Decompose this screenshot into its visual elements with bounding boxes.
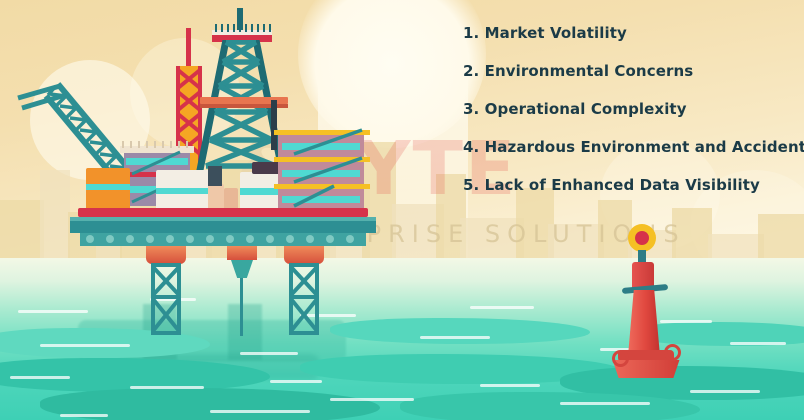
water-highlight xyxy=(420,336,490,339)
buoy-handle-right xyxy=(664,344,681,361)
derrick-crown-pickets xyxy=(213,24,273,32)
offshore-oil-drilling-rig xyxy=(0,0,420,360)
water-highlight xyxy=(470,306,534,309)
water-highlight xyxy=(10,376,70,379)
water-highlight xyxy=(60,414,108,417)
water-highlight xyxy=(690,390,760,393)
navigation-buoy xyxy=(600,224,710,374)
challenges-list: 1. Market Volatility 2. Environmental Co… xyxy=(463,26,793,193)
orange-container-stripe xyxy=(86,184,130,190)
list-item: 2. Environmental Concerns xyxy=(463,64,793,79)
water-highlight xyxy=(330,398,414,401)
center-drill-cone xyxy=(231,260,253,278)
buoy-light-lens xyxy=(635,231,649,245)
left-leg-lattice xyxy=(149,263,183,335)
right-leg-collar xyxy=(284,246,324,264)
right-module-diagonal-struts xyxy=(274,128,370,210)
center-stack-dark xyxy=(208,166,222,186)
center-drill-collar xyxy=(227,246,257,260)
right-leg-lattice xyxy=(287,263,321,335)
center-tank-b xyxy=(224,188,238,210)
water-highlight xyxy=(480,384,540,387)
water-highlight xyxy=(730,342,786,345)
list-item: 4. Hazardous Environment and Accidents xyxy=(463,140,793,155)
center-tank-a xyxy=(208,184,224,210)
illustration-scene: &BYTE ENTERPRISE SOLUTIONS xyxy=(0,0,804,420)
main-deck-red xyxy=(78,208,368,217)
main-deck-teal-edge xyxy=(70,217,376,221)
left-module-rail xyxy=(120,141,194,148)
water-highlight xyxy=(270,380,322,383)
center-building-left-band xyxy=(156,188,214,194)
list-item: 1. Market Volatility xyxy=(463,26,793,41)
list-item: 5. Lack of Enhanced Data Visibility xyxy=(463,178,793,193)
buoy-tower xyxy=(628,290,660,356)
water-highlight xyxy=(210,410,310,413)
buoy-handle-left xyxy=(612,350,629,367)
water-highlight xyxy=(130,386,204,389)
water-highlight xyxy=(560,402,650,405)
drill-string xyxy=(240,278,243,336)
list-item: 3. Operational Complexity xyxy=(463,102,793,117)
buoy-upper-body xyxy=(632,262,654,288)
left-leg-collar xyxy=(146,246,186,264)
main-deck-rivets xyxy=(80,233,366,246)
